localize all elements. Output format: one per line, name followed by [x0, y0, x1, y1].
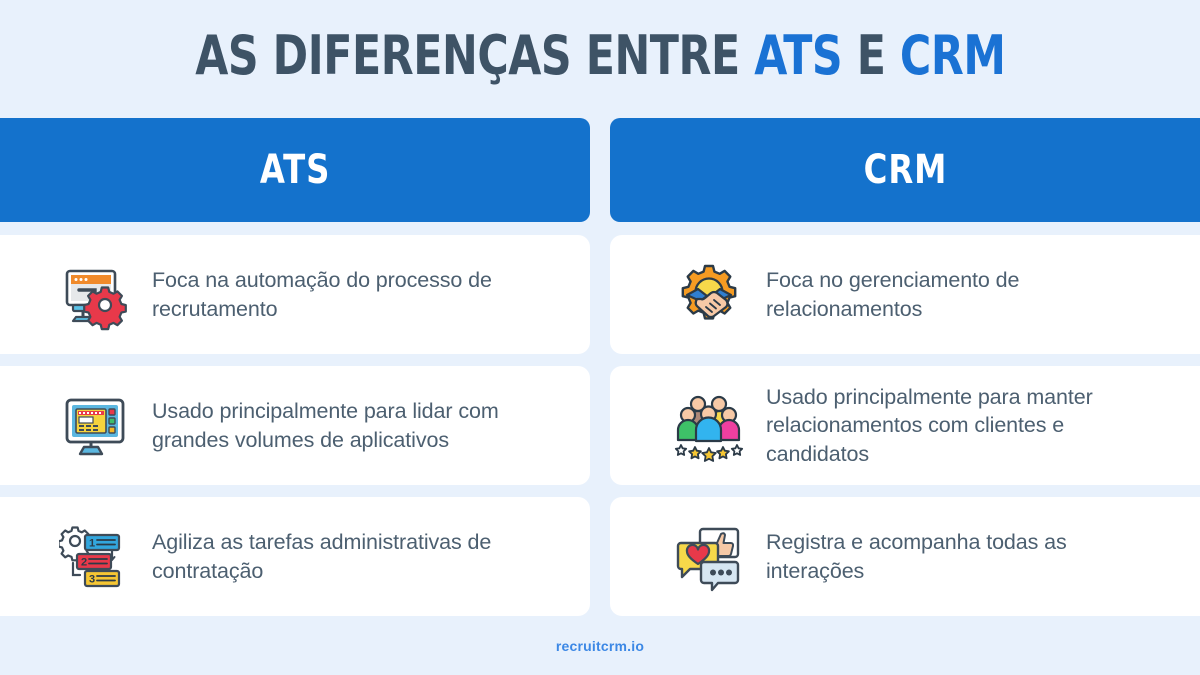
brand-url[interactable]: recruitcrm.io: [556, 638, 644, 654]
list-item[interactable]: 1 2 3: [0, 497, 590, 616]
list-item-text: Foca na automação do processo de recruta…: [152, 266, 564, 323]
list-item[interactable]: Foca na automação do processo de recruta…: [0, 235, 590, 354]
title-bar: AS DIFERENÇAS ENTRE ATS E CRM: [0, 0, 1200, 118]
handshake-gear-icon: [670, 256, 748, 334]
list-item-text: Usado principalmente para lidar com gran…: [152, 397, 564, 454]
column-header-ats: ATS: [0, 118, 590, 222]
footer: recruitcrm.io: [0, 616, 1200, 675]
list-item[interactable]: Registra e acompanha todas as interações: [610, 497, 1200, 616]
list-item-text: Usado principalmente para manter relacio…: [766, 383, 1166, 469]
chat-bubbles-feedback-icon: [670, 518, 748, 596]
list-item-text: Agiliza as tarefas administrativas de co…: [152, 528, 564, 585]
comparison-columns: ATS: [0, 118, 1200, 616]
card-list-crm: Foca no gerenciamento de relacionamentos: [610, 222, 1200, 616]
title-middle: E: [842, 24, 900, 87]
column-header-crm: CRM: [610, 118, 1200, 222]
svg-text:1: 1: [89, 537, 95, 549]
list-item-text: Registra e acompanha todas as interações: [766, 528, 1166, 585]
column-header-label-ats: ATS: [260, 147, 330, 193]
list-item-text: Foca no gerenciamento de relacionamentos: [766, 266, 1166, 323]
card-list-ats: Foca na automação do processo de recruta…: [0, 222, 590, 616]
svg-text:3: 3: [89, 573, 95, 585]
column-header-label-crm: CRM: [863, 147, 947, 193]
page-title: AS DIFERENÇAS ENTRE ATS E CRM: [195, 24, 1005, 87]
infographic-root: AS DIFERENÇAS ENTRE ATS E CRM ATS: [0, 0, 1200, 675]
list-item[interactable]: Foca no gerenciamento de relacionamentos: [610, 235, 1200, 354]
monitor-automation-gear-icon: [56, 256, 134, 334]
column-ats: ATS: [0, 118, 590, 616]
svg-text:2: 2: [81, 556, 87, 568]
list-item[interactable]: Usado principalmente para lidar com gran…: [0, 366, 590, 485]
title-accent-crm: CRM: [900, 24, 1006, 87]
people-group-stars-icon: [670, 387, 748, 465]
gear-workflow-steps-icon: 1 2 3: [56, 518, 134, 596]
monitor-dashboard-icon: [56, 387, 134, 465]
title-accent-ats: ATS: [754, 24, 842, 87]
list-item[interactable]: Usado principalmente para manter relacio…: [610, 366, 1200, 485]
title-prefix: AS DIFERENÇAS ENTRE: [195, 24, 754, 87]
column-crm: CRM: [610, 118, 1200, 616]
